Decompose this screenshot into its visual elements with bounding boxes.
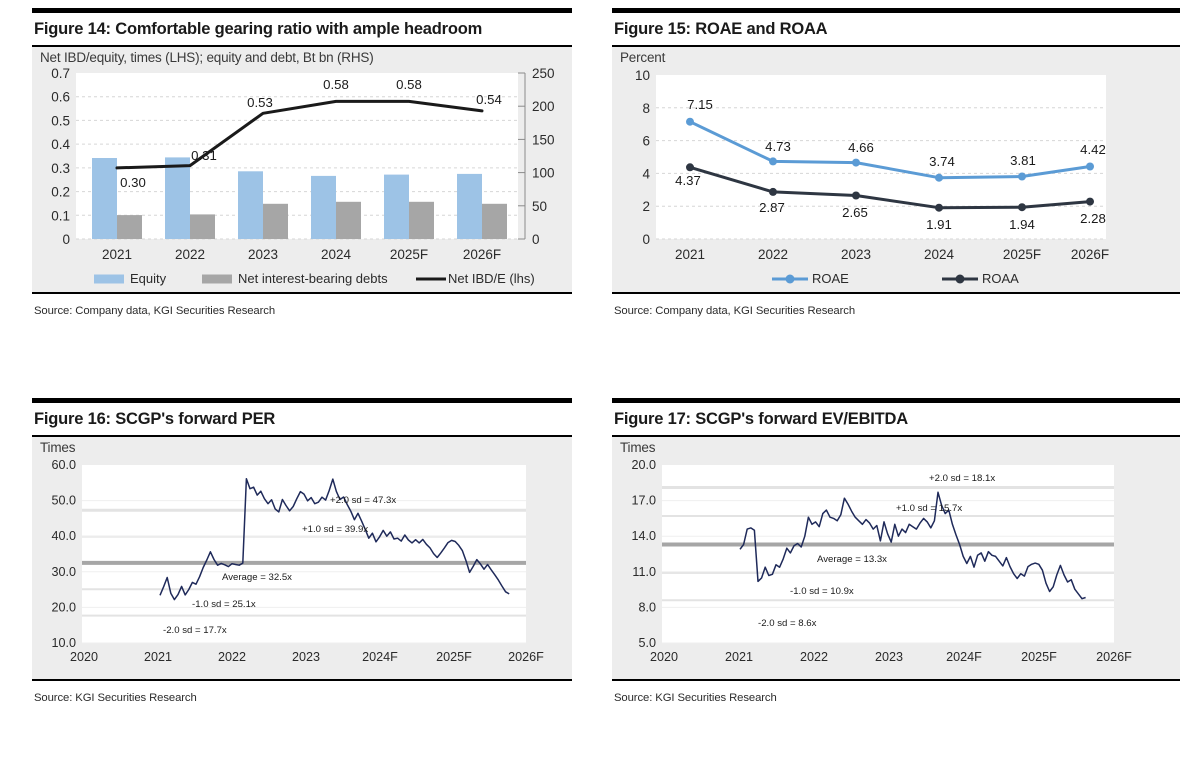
svg-text:1.91: 1.91 <box>926 217 952 232</box>
figure-14-title: Figure 14: Comfortable gearing ratio wit… <box>32 13 572 45</box>
band-label-minus1sd: -1.0 sd = 25.1x <box>192 599 256 610</box>
band-label-plus1sd: +1.0 sd = 15.7x <box>896 503 962 514</box>
plot-area <box>76 73 518 239</box>
svg-text:2022: 2022 <box>758 247 788 262</box>
svg-text:0.58: 0.58 <box>396 77 422 92</box>
figure-16-chart: Times <box>32 437 572 679</box>
figure-14-source: Source: Company data, KGI Securities Res… <box>32 294 572 317</box>
figure-panel-16: Figure 16: SCGP's forward PER Times <box>0 390 600 780</box>
svg-text:2021: 2021 <box>675 247 705 262</box>
band-label-plus2sd: +2.0 sd = 18.1x <box>929 473 995 484</box>
svg-text:0.6: 0.6 <box>51 89 70 104</box>
left-axis-labels: 0.7 0.6 0.5 0.4 0.3 0.2 0.1 0 <box>51 66 70 247</box>
svg-text:2026F: 2026F <box>463 247 501 262</box>
plot-area <box>656 75 1106 239</box>
svg-text:10.0: 10.0 <box>51 636 76 650</box>
svg-text:2024: 2024 <box>924 247 955 262</box>
svg-text:0.53: 0.53 <box>247 95 273 110</box>
svg-text:4.66: 4.66 <box>848 140 874 155</box>
svg-text:0.3: 0.3 <box>51 160 70 175</box>
legend-marker-roae <box>786 274 795 283</box>
svg-text:2020: 2020 <box>70 650 98 664</box>
svg-text:2021: 2021 <box>144 650 172 664</box>
figure-15-title: Figure 15: ROAE and ROAA <box>612 13 1180 45</box>
figure-14-chart: Net IBD/equity, times (LHS); equity and … <box>32 47 572 292</box>
legend-label-debt: Net interest-bearing debts <box>238 271 388 286</box>
svg-text:4.73: 4.73 <box>765 139 791 154</box>
figure-15-unit-label: Percent <box>620 50 665 65</box>
y-axis-labels: 20.0 17.0 14.0 11.0 8.0 5.0 <box>631 458 656 650</box>
svg-text:2022: 2022 <box>218 650 246 664</box>
figure-15-svg: 10 8 6 4 2 0 <box>612 47 1164 292</box>
figure-panel-17: Figure 17: SCGP's forward EV/EBITDA Time… <box>600 390 1200 780</box>
svg-text:7.15: 7.15 <box>687 97 713 112</box>
svg-text:2026F: 2026F <box>508 650 544 664</box>
svg-text:2026F: 2026F <box>1071 247 1109 262</box>
band-label-average: Average = 13.3x <box>817 554 887 565</box>
svg-text:2023: 2023 <box>248 247 278 262</box>
svg-text:2024F: 2024F <box>946 650 982 664</box>
x-axis-labels: 2021 2022 2023 2024 2025F 2026F <box>675 247 1109 262</box>
svg-text:2021: 2021 <box>725 650 753 664</box>
figure-17-unit-label: Times <box>620 440 655 455</box>
svg-text:50.0: 50.0 <box>51 493 76 507</box>
svg-text:0: 0 <box>62 232 70 247</box>
figure-16-unit-label: Times <box>40 440 75 455</box>
svg-text:0.31: 0.31 <box>191 148 217 163</box>
svg-text:2020: 2020 <box>650 650 678 664</box>
svg-text:3.74: 3.74 <box>929 154 955 169</box>
right-axis-ticks <box>518 73 525 239</box>
svg-text:0.2: 0.2 <box>51 184 70 199</box>
figure-17-source: Source: KGI Securities Research <box>612 681 1180 704</box>
svg-text:100: 100 <box>532 165 555 180</box>
svg-text:0: 0 <box>532 232 540 247</box>
svg-text:0.58: 0.58 <box>323 77 349 92</box>
x-axis-labels: 2020 2021 2022 2023 2024F 2025F 2026F <box>650 650 1132 664</box>
figure-16-svg: 60.0 50.0 40.0 30.0 20.0 10.0 +2.0 sd = … <box>32 437 576 679</box>
legend-swatch-equity <box>94 274 124 283</box>
svg-text:2024: 2024 <box>321 247 352 262</box>
svg-text:2025F: 2025F <box>436 650 472 664</box>
svg-text:2026F: 2026F <box>1096 650 1132 664</box>
svg-text:2: 2 <box>642 199 650 214</box>
svg-text:0.5: 0.5 <box>51 113 70 128</box>
svg-text:11.0: 11.0 <box>632 564 656 578</box>
svg-text:2023: 2023 <box>875 650 903 664</box>
svg-text:4: 4 <box>642 166 650 181</box>
band-label-plus1sd: +1.0 sd = 39.9x <box>302 524 368 535</box>
svg-text:2023: 2023 <box>841 247 871 262</box>
svg-text:2024F: 2024F <box>362 650 398 664</box>
svg-text:1.94: 1.94 <box>1009 217 1035 232</box>
svg-text:8: 8 <box>642 100 650 115</box>
svg-text:4.37: 4.37 <box>675 173 701 188</box>
plot-area <box>662 465 1114 643</box>
band-label-average: Average = 32.5x <box>222 572 292 583</box>
svg-text:2022: 2022 <box>800 650 828 664</box>
svg-text:0.7: 0.7 <box>51 66 70 81</box>
svg-text:150: 150 <box>532 132 555 147</box>
svg-text:40.0: 40.0 <box>51 529 76 543</box>
figures-grid: Figure 14: Comfortable gearing ratio wit… <box>0 0 1200 780</box>
figure-15-source: Source: Company data, KGI Securities Res… <box>612 294 1180 317</box>
figure-panel-15: Figure 15: ROAE and ROAA Percent 10 8 6 … <box>600 0 1200 390</box>
svg-text:0.4: 0.4 <box>51 137 70 152</box>
y-axis-labels: 60.0 50.0 40.0 30.0 20.0 10.0 <box>51 458 76 650</box>
x-axis-labels: 2020 2021 2022 2023 2024F 2025F 2026F <box>70 650 544 664</box>
legend-marker-roaa <box>956 274 965 283</box>
svg-text:2.87: 2.87 <box>759 200 785 215</box>
svg-text:60.0: 60.0 <box>51 458 76 472</box>
figure-17-svg: 20.0 17.0 14.0 11.0 8.0 5.0 +2.0 sd = 18… <box>612 437 1164 679</box>
svg-text:2.65: 2.65 <box>842 205 868 220</box>
legend-label-ibd: Net IBD/E (lhs) <box>448 271 535 286</box>
figure-16-title: Figure 16: SCGP's forward PER <box>32 403 572 435</box>
svg-text:2025F: 2025F <box>1021 650 1057 664</box>
legend-label-roaa: ROAA <box>982 271 1019 286</box>
svg-text:8.0: 8.0 <box>638 600 656 614</box>
y-axis-labels: 10 8 6 4 2 0 <box>635 68 651 247</box>
svg-text:10: 10 <box>635 68 650 83</box>
svg-text:6: 6 <box>642 133 650 148</box>
figure-14-svg: 0.7 0.6 0.5 0.4 0.3 0.2 0.1 0 250 200 15… <box>32 47 576 292</box>
svg-text:2021: 2021 <box>102 247 132 262</box>
right-axis-labels: 250 200 150 100 50 0 <box>532 66 555 247</box>
svg-text:0: 0 <box>642 232 650 247</box>
svg-text:20.0: 20.0 <box>631 458 656 472</box>
svg-text:0.30: 0.30 <box>120 175 146 190</box>
figure-panel-14: Figure 14: Comfortable gearing ratio wit… <box>0 0 600 390</box>
svg-text:20.0: 20.0 <box>51 600 76 614</box>
svg-text:200: 200 <box>532 99 555 114</box>
svg-text:0.54: 0.54 <box>476 92 502 107</box>
figure-17-title: Figure 17: SCGP's forward EV/EBITDA <box>612 403 1180 435</box>
band-label-minus2sd: -2.0 sd = 17.7x <box>163 625 227 636</box>
figure-16-source: Source: KGI Securities Research <box>32 681 572 704</box>
legend-label-roae: ROAE <box>812 271 849 286</box>
x-axis-labels: 2021 2022 2023 2024 2025F 2026F <box>102 247 501 262</box>
figure-14-unit-label: Net IBD/equity, times (LHS); equity and … <box>40 50 374 65</box>
svg-text:250: 250 <box>532 66 555 81</box>
svg-text:5.0: 5.0 <box>638 636 656 650</box>
svg-text:2023: 2023 <box>292 650 320 664</box>
svg-text:0.1: 0.1 <box>51 208 70 223</box>
band-label-minus2sd: -2.0 sd = 8.6x <box>758 618 817 629</box>
legend-label-equity: Equity <box>130 271 167 286</box>
band-label-minus1sd: -1.0 sd = 10.9x <box>790 586 854 597</box>
figure-17-chart: Times 20.0 <box>612 437 1180 679</box>
svg-text:14.0: 14.0 <box>631 529 656 543</box>
figure-15-legend: ROAE ROAA <box>772 271 1019 286</box>
figure-14-legend: Equity Net interest-bearing debts Net IB… <box>94 271 535 286</box>
svg-text:30.0: 30.0 <box>51 564 76 578</box>
svg-text:17.0: 17.0 <box>631 493 656 507</box>
svg-text:4.42: 4.42 <box>1080 142 1106 157</box>
svg-text:3.81: 3.81 <box>1010 153 1036 168</box>
svg-text:2.28: 2.28 <box>1080 211 1106 226</box>
svg-text:2025F: 2025F <box>390 247 428 262</box>
svg-text:2025F: 2025F <box>1003 247 1041 262</box>
legend-swatch-debt <box>202 274 232 283</box>
svg-text:2022: 2022 <box>175 247 205 262</box>
figure-15-chart: Percent 10 8 6 4 2 0 <box>612 47 1180 292</box>
svg-text:50: 50 <box>532 198 547 213</box>
band-label-plus2sd: +2.0 sd = 47.3x <box>330 495 396 506</box>
